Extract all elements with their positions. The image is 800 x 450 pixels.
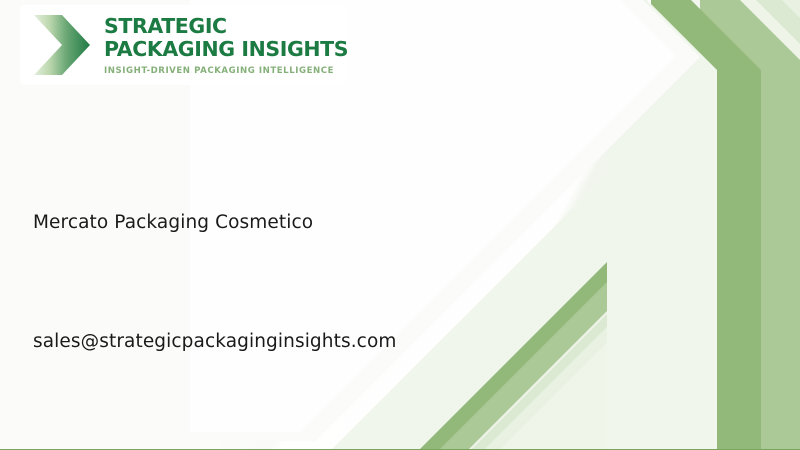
logo-wordmark: STRATEGIC PACKAGING INSIGHTS INSIGHT-DRI… <box>104 14 348 76</box>
title-slide: STRATEGIC PACKAGING INSIGHTS INSIGHT-DRI… <box>0 0 800 450</box>
logo-line-1: STRATEGIC <box>104 16 348 37</box>
contact-email: sales@strategicpackaginginsights.com <box>33 331 396 352</box>
brand-logo: STRATEGIC PACKAGING INSIGHTS INSIGHT-DRI… <box>20 5 345 85</box>
chevron-arrow-icon <box>28 9 100 81</box>
logo-tagline: INSIGHT-DRIVEN PACKAGING INTELLIGENCE <box>104 66 348 76</box>
logo-line-2: PACKAGING INSIGHTS <box>104 39 348 60</box>
page-title: Mercato Packaging Cosmetico <box>33 212 313 233</box>
